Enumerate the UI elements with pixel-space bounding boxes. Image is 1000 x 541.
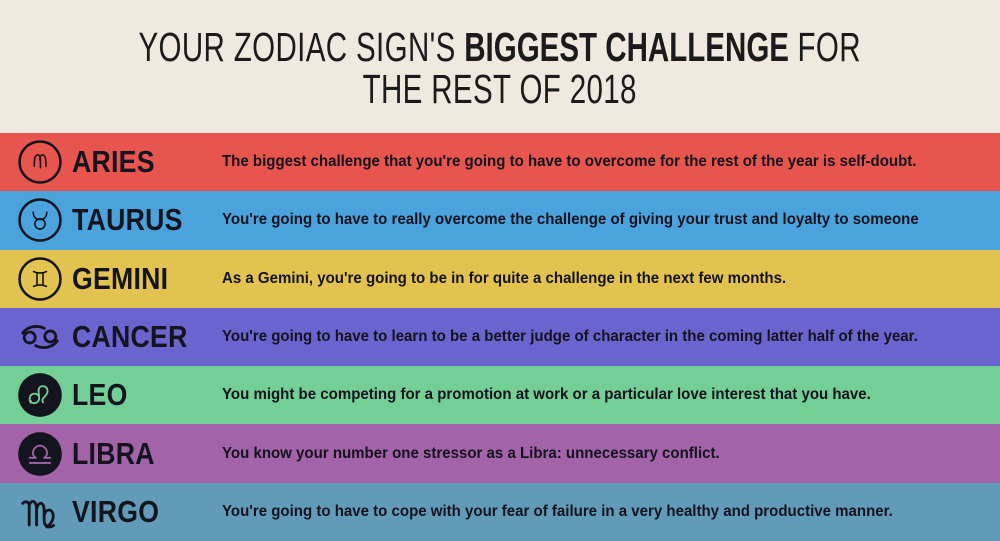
sign-description: As a Gemini, you're going to be in for q…: [222, 270, 786, 288]
virgo-glyph: [16, 488, 64, 536]
zodiac-row-list: AriesThe biggest challenge that you're g…: [0, 133, 1000, 541]
zodiac-row-gemini[interactable]: GeminiAs a Gemini, you're going to be in…: [0, 250, 1000, 308]
taurus-glyph: [16, 196, 64, 244]
zodiac-row-libra[interactable]: LibraYou know your number one stressor a…: [0, 424, 1000, 482]
leo-glyph: [16, 371, 64, 419]
title-text-suffix: for: [789, 24, 861, 70]
sign-block: Taurus: [16, 196, 222, 244]
sign-name: Taurus: [72, 202, 183, 238]
sign-block: Gemini: [16, 255, 222, 303]
sign-name: Aries: [72, 144, 155, 180]
sign-block: Aries: [16, 138, 222, 186]
sign-description: You're going to have to learn to be a be…: [222, 328, 918, 346]
sign-block: Cancer: [16, 313, 222, 361]
sign-block: Virgo: [16, 488, 222, 536]
zodiac-row-leo[interactable]: LeoYou might be competing for a promotio…: [0, 366, 1000, 424]
sign-name: Leo: [72, 377, 128, 413]
sign-description: You know your number one stressor as a L…: [222, 445, 720, 463]
sign-name: Virgo: [72, 494, 159, 530]
sign-description: The biggest challenge that you're going …: [222, 153, 916, 171]
zodiac-infographic: Your Zodiac Sign's Biggest Challenge for…: [0, 0, 1000, 541]
title-line-1: Your Zodiac Sign's Biggest Challenge for: [139, 27, 861, 69]
sign-description: You might be competing for a promotion a…: [222, 386, 871, 404]
title-line-2: the rest of 2018: [139, 69, 861, 111]
sign-name: Gemini: [72, 261, 168, 297]
sign-block: Libra: [16, 430, 222, 478]
gemini-glyph: [16, 255, 64, 303]
aries-glyph: [16, 138, 64, 186]
page-title: Your Zodiac Sign's Biggest Challenge for…: [139, 27, 861, 111]
sign-name: Cancer: [72, 319, 188, 355]
zodiac-row-taurus[interactable]: TaurusYou're going to have to really ove…: [0, 191, 1000, 249]
zodiac-row-cancer[interactable]: CancerYou're going to have to learn to b…: [0, 308, 1000, 366]
title-text-prefix: Your Zodiac Sign's: [139, 24, 465, 70]
sign-description: You're going to have to cope with your f…: [222, 503, 893, 521]
sign-name: Libra: [72, 436, 155, 472]
header: Your Zodiac Sign's Biggest Challenge for…: [0, 0, 1000, 133]
sign-block: Leo: [16, 371, 222, 419]
sign-description: You're going to have to really overcome …: [222, 211, 919, 229]
title-text-emphasis: Biggest Challenge: [465, 24, 790, 70]
zodiac-row-aries[interactable]: AriesThe biggest challenge that you're g…: [0, 133, 1000, 191]
zodiac-row-virgo[interactable]: VirgoYou're going to have to cope with y…: [0, 483, 1000, 541]
libra-glyph: [16, 430, 64, 478]
cancer-glyph: [16, 313, 64, 361]
